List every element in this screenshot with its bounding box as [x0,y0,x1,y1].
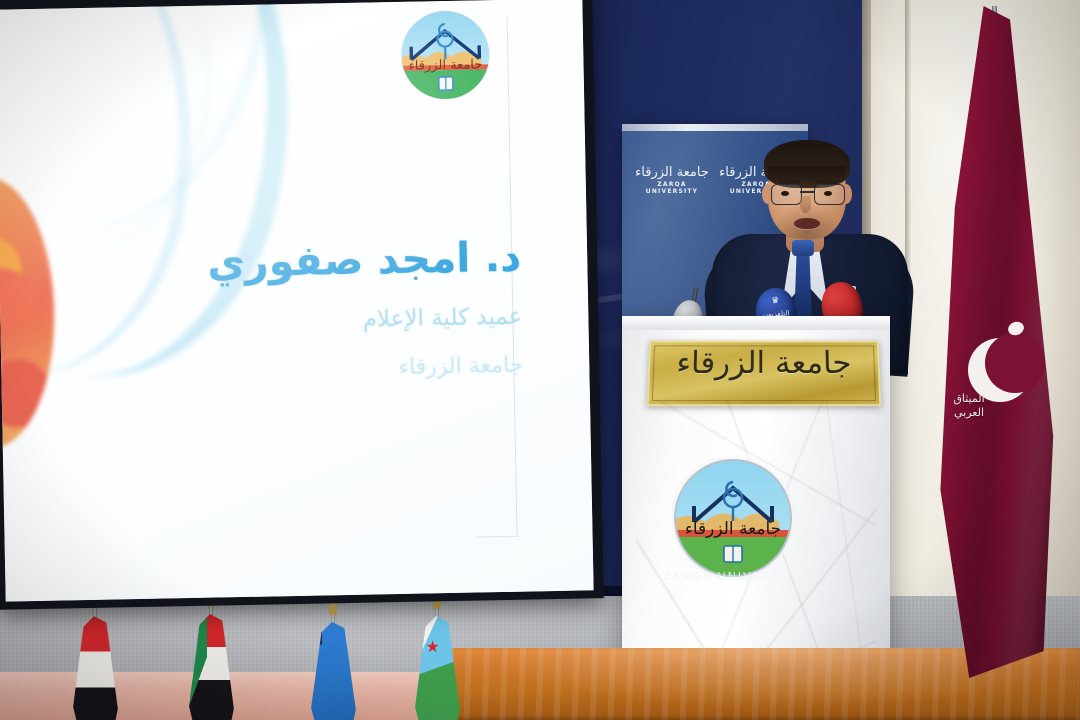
flag-blue [300,600,366,720]
svg-text:ZARQA UNIVERSITY: ZARQA UNIVERSITY [663,570,803,583]
podium-nameplate-text: جامعة الزرقاء [650,348,878,379]
microphone-red-label [821,299,860,306]
conference-photo-scene: VE جامعة الزرقاء ZARQA UNIVERSITY جامعة … [0,0,1080,720]
slide-subtitle-role: عميد كلية الإعلام [92,301,523,341]
star-icon: ★ [426,640,440,654]
flag-yemen-cloth [70,616,122,720]
flag-sudan [178,592,244,720]
flag-yemen [62,594,128,720]
flag-blue-cloth [308,622,360,720]
maroon-flag-arabic-text: الميثاق العربي [942,392,996,420]
speaker-tie-knot [792,240,814,256]
flag-djibouti: ★ [404,594,470,720]
flag-djibouti-cloth: ★ [412,616,464,720]
projection-screen: جامعة الزرقاء د. امجد صفوري عميد كلية ال… [0,0,594,602]
crown-icon: ♛ [755,296,795,307]
banner-logo-1: جامعة الزرقاء ZARQA UNIVERSITY [634,166,710,195]
flag-sudan-cloth [186,614,238,720]
zarqa-university-seal-icon: جامعة الزرقاء ZARQA UNIVERSITY [660,452,806,588]
rollup-banner-top-rail [622,124,808,131]
slide-text-block: د. امجد صفوري عميد كلية الإعلام جامعة ال… [91,232,524,390]
podium-top-surface [622,316,890,330]
svg-text:جامعة الزرقاء: جامعة الزرقاء [409,57,483,73]
podium-nameplate: جامعة الزرقاء [647,341,882,407]
speaker-eye-left [781,191,789,196]
slide-title: د. امجد صفوري [91,232,522,291]
speaker-hair [764,140,850,188]
speaker-mouth [794,218,820,229]
banner-logo-1-english: ZARQA UNIVERSITY [634,181,710,195]
speaker-eye-right [824,191,832,196]
maroon-crescent-flag: الميثاق العربي [938,6,1068,696]
banner-logo-1-arabic: جامعة الزرقاء [634,166,710,179]
eyeglass-bridge [800,191,814,193]
svg-text:جامعة الزرقاء: جامعة الزرقاء [685,519,781,539]
speaker-nose [800,196,811,213]
zarqa-university-logo-icon: جامعة الزرقاء [390,4,500,114]
